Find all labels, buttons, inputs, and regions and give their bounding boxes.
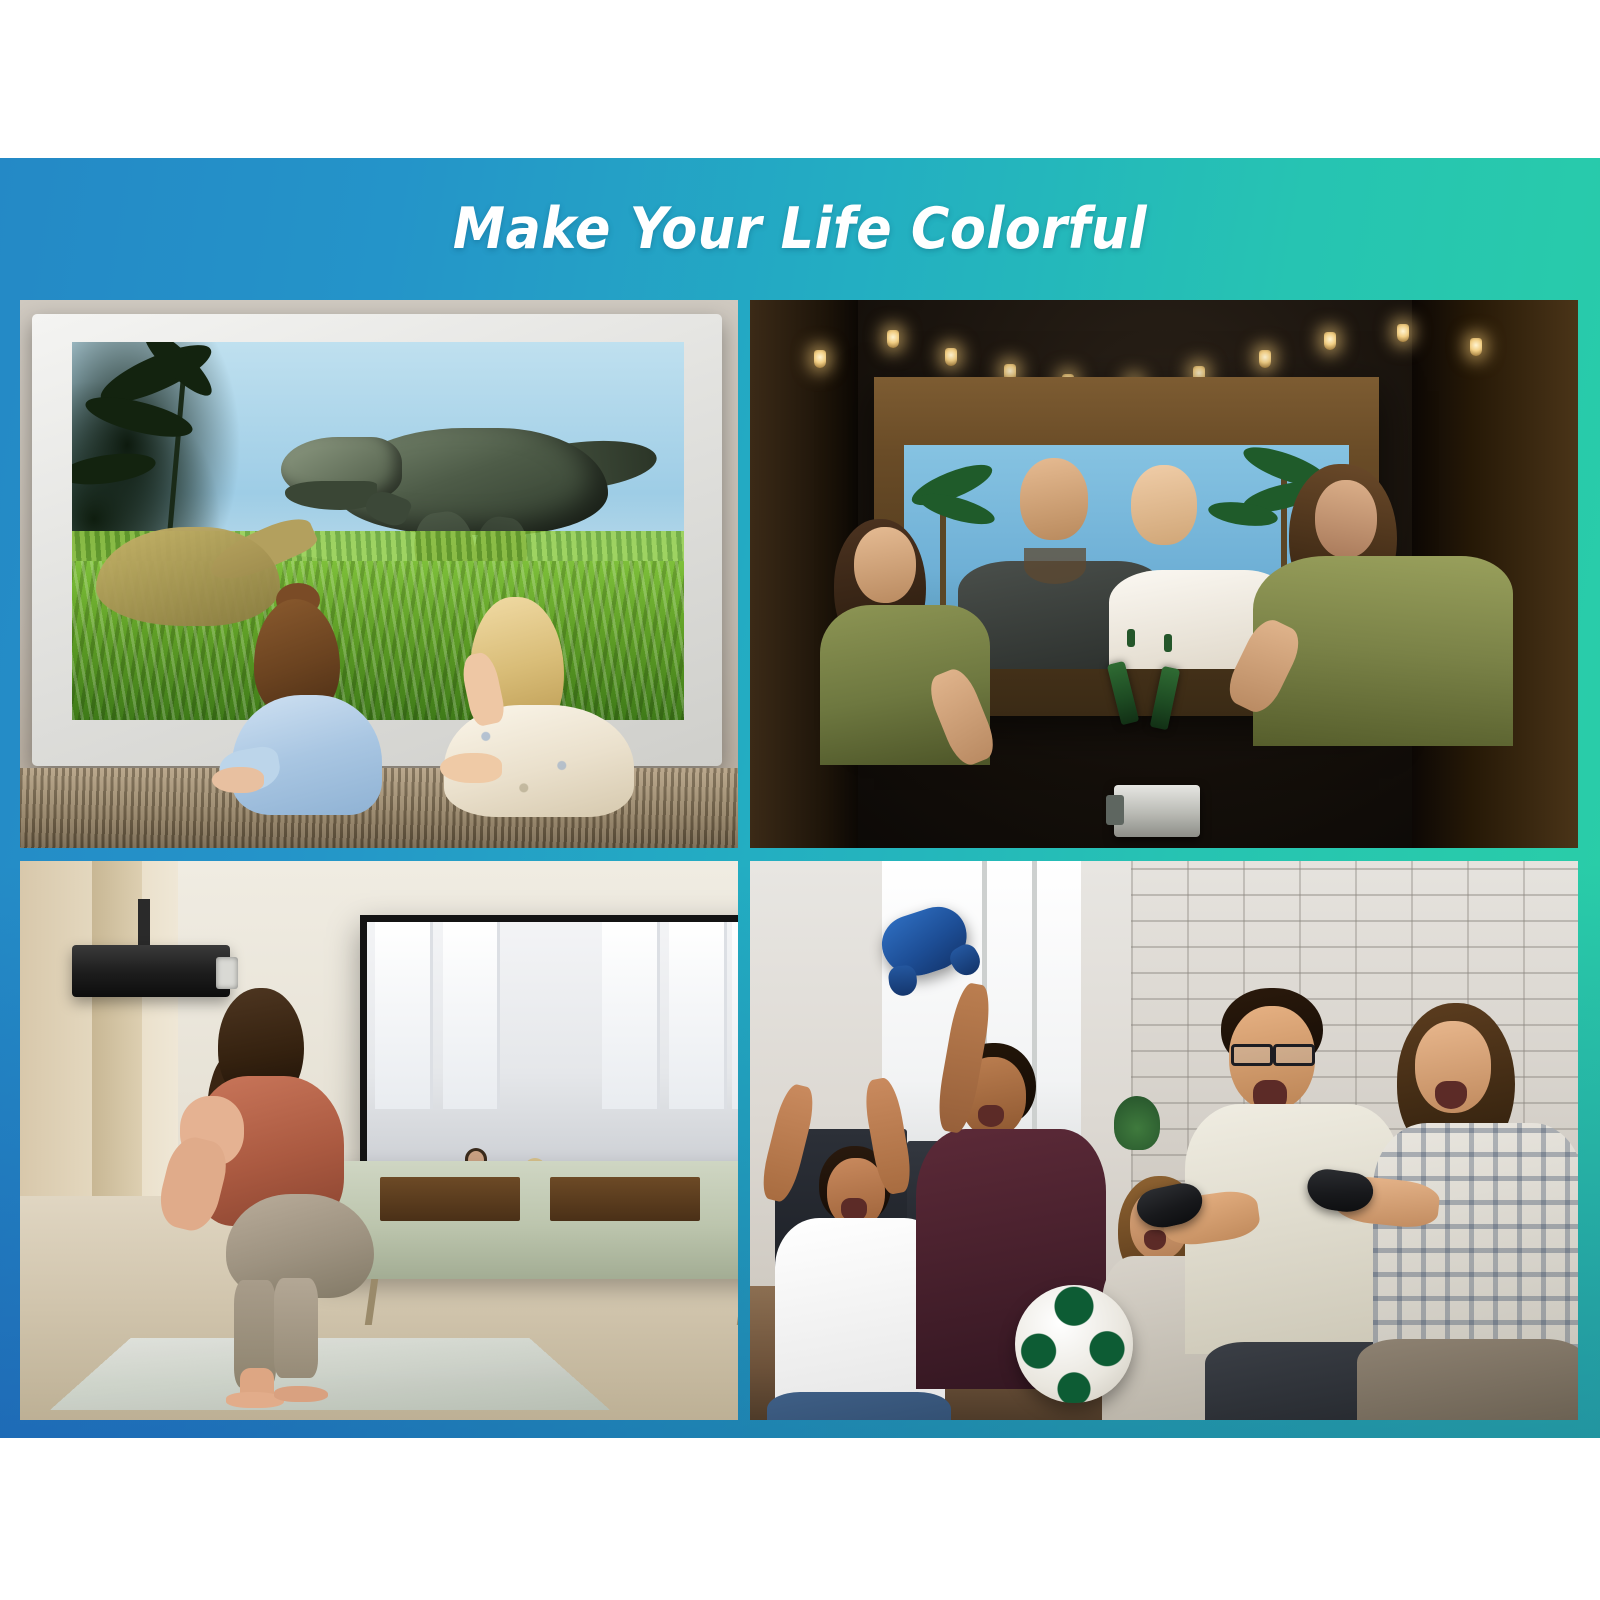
t-rex-jaw — [285, 481, 377, 509]
light-bulb-icon — [1324, 332, 1336, 350]
child-foot — [212, 767, 264, 793]
man-open-mouth — [978, 1105, 1004, 1127]
woman-exercising — [170, 988, 400, 1408]
eyeglasses-icon — [1273, 1044, 1315, 1066]
woman-jeans — [1357, 1339, 1578, 1420]
console-drawer — [550, 1177, 700, 1221]
child-blue-shirt — [220, 599, 395, 814]
eyeglasses-icon — [1231, 1044, 1273, 1066]
panel-kids-dinosaur-movie[interactable] — [20, 300, 738, 848]
portable-projector — [1114, 785, 1200, 837]
light-bulb-icon — [814, 350, 826, 368]
studio-window — [732, 922, 738, 1109]
viewer-woman-olive — [816, 519, 1064, 848]
viewer-man-olive — [1263, 464, 1561, 848]
projector-lens — [1106, 795, 1124, 825]
light-bulb-icon — [1397, 324, 1409, 342]
soccer-ball — [1015, 1285, 1133, 1403]
light-bulb-icon — [1470, 338, 1482, 356]
woman-laughing-open-mouth — [1435, 1081, 1467, 1109]
child-floral-dress — [440, 593, 640, 818]
light-bulb-icon — [1259, 350, 1271, 368]
studio-window — [443, 922, 501, 1109]
woman-open-mouth — [1144, 1230, 1166, 1250]
woman-laughing — [1363, 973, 1578, 1420]
panel-friends-gaming[interactable] — [750, 861, 1578, 1420]
leg-right — [274, 1278, 318, 1378]
movie-woman-head — [1131, 465, 1197, 545]
console-drawer — [380, 1177, 520, 1221]
studio-window — [602, 922, 660, 1109]
light-bulb-icon — [945, 348, 957, 366]
foot-right — [274, 1386, 328, 1402]
panel-outdoor-movie-night[interactable] — [750, 300, 1578, 848]
page-title: Make Your Life Colorful — [64, 196, 1536, 262]
boy-raised-arm-left — [757, 1082, 819, 1205]
viewer-head — [854, 527, 916, 603]
projector-ceiling-mount — [138, 899, 150, 949]
feature-gallery-grid — [20, 300, 1578, 1420]
woman-plaid-shirt — [1373, 1123, 1578, 1373]
panel-home-fitness[interactable] — [20, 861, 738, 1420]
projector-lens — [216, 957, 238, 989]
light-bulb-icon — [887, 330, 899, 348]
studio-window — [669, 922, 727, 1109]
child-foot — [440, 753, 502, 783]
viewer-head — [1315, 480, 1377, 558]
beer-bottle-neck — [1127, 629, 1135, 647]
beer-bottle-neck — [1164, 634, 1172, 652]
product-marketing-image: Make Your Life Colorful — [0, 0, 1600, 1600]
projection-screen — [360, 915, 738, 1189]
